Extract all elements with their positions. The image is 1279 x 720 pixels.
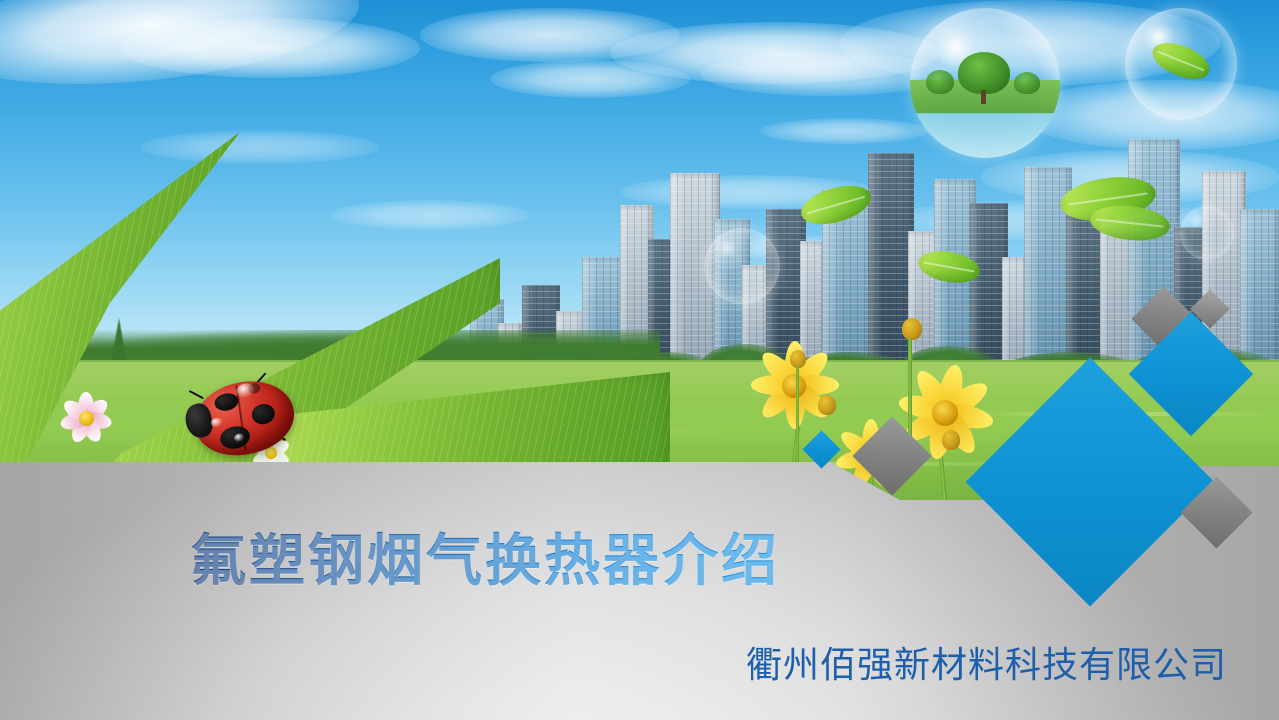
leaf-vein — [807, 196, 866, 214]
tree-trunk — [981, 90, 986, 104]
flower-center — [932, 400, 958, 426]
flower-center — [782, 374, 806, 398]
soap-bubble-icon — [1180, 206, 1234, 260]
soap-bubble-icon — [704, 228, 780, 304]
leaf-vein — [1068, 193, 1148, 206]
soap-bubble-with-leaf-icon — [1125, 8, 1237, 120]
soap-bubble-with-tree-icon — [910, 8, 1060, 158]
flower-bud — [942, 430, 960, 450]
company-name: 衢州佰强新材料科技有限公司 — [746, 636, 1227, 688]
ladybug-leg — [189, 390, 204, 399]
pink-flower — [56, 388, 116, 448]
presentation-slide: 氟塑钢烟气换热器介绍 衢州佰强新材料科技有限公司 — [0, 0, 1279, 720]
leaf-icon — [1148, 36, 1215, 86]
tree-icon — [926, 70, 954, 94]
leaf-vein — [1157, 51, 1204, 71]
leaf-vein — [923, 262, 975, 273]
tree-icon — [958, 52, 1010, 94]
tree-icon — [1014, 72, 1040, 94]
leaf-vein — [1096, 219, 1163, 228]
flower-bud — [902, 318, 922, 340]
page-title: 氟塑钢烟气换热器介绍 — [190, 516, 780, 597]
flower-bud — [818, 395, 836, 415]
flower-center — [79, 411, 94, 426]
flower-stem — [796, 366, 799, 466]
